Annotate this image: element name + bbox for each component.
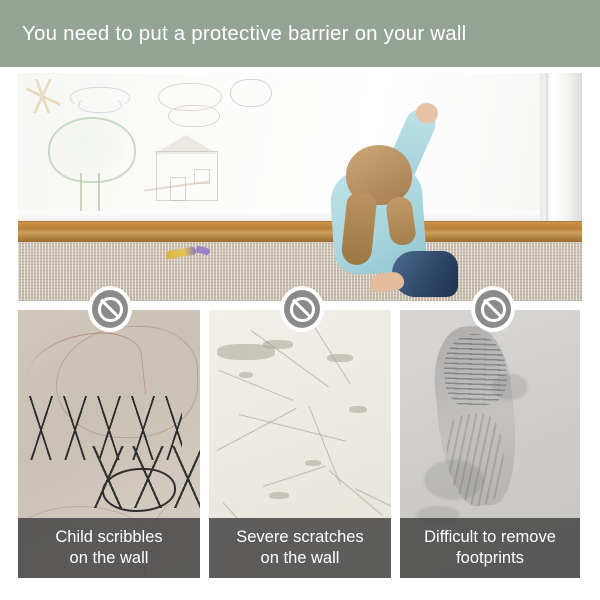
page-title: You need to put a protective barrier on …: [0, 22, 466, 46]
card-caption: Severe scratches on the wall: [209, 518, 391, 578]
problem-card[interactable]: Severe scratches on the wall: [209, 310, 391, 578]
card-caption-text: Severe scratches on the wall: [230, 527, 369, 569]
door-frame: [540, 73, 582, 242]
scratch: [263, 466, 326, 487]
scratch: [239, 414, 346, 442]
paint-chip: [305, 460, 321, 466]
child-figure: [318, 101, 458, 301]
card-caption-text: Difficult to remove footprints: [418, 527, 562, 569]
new-scribble-drawing-icon: [230, 79, 272, 107]
wall-smudge: [424, 460, 484, 500]
caption-line-2: footprints: [456, 549, 524, 567]
house-door-drawing-icon: [170, 177, 186, 201]
prohibition-glyph: [290, 297, 315, 322]
prohibition-icon: [471, 286, 515, 332]
prohibition-icon: [280, 286, 324, 332]
caption-line-1: Child scribbles: [55, 528, 162, 546]
scratch: [309, 406, 341, 484]
wall-smudge: [492, 374, 528, 400]
paint-chip: [349, 406, 367, 413]
problem-card[interactable]: Child scribbles on the wall: [18, 310, 200, 578]
caption-line-2: on the wall: [261, 549, 340, 567]
card-caption: Child scribbles on the wall: [18, 518, 200, 578]
header-banner: You need to put a protective barrier on …: [0, 0, 600, 67]
scratch: [329, 470, 383, 516]
wood-baseboard: [18, 221, 582, 242]
scratch: [355, 488, 391, 513]
child-jeans: [392, 251, 458, 297]
hero-wall: [18, 73, 582, 223]
problem-card-row: Child scribbles on the wall: [18, 310, 582, 578]
caption-line-1: Difficult to remove: [424, 528, 556, 546]
prohibition-glyph: [98, 297, 123, 322]
caption-line-1: Severe scratches: [236, 528, 363, 546]
prohibition-glyph: [481, 297, 506, 322]
card-caption: Difficult to remove footprints: [400, 518, 580, 578]
scratch: [219, 370, 294, 401]
card-caption-text: Child scribbles on the wall: [49, 527, 168, 569]
problem-card[interactable]: Difficult to remove footprints: [400, 310, 580, 578]
scratch: [217, 408, 297, 451]
caption-line-2: on the wall: [70, 549, 149, 567]
promo-page: You need to put a protective barrier on …: [0, 0, 600, 600]
paint-chip: [269, 492, 289, 499]
hero-photo: [18, 73, 582, 301]
cloud-drawing-icon: [168, 105, 220, 127]
paint-chip: [239, 372, 253, 378]
prohibition-icon: [88, 286, 132, 332]
cloud-drawing-icon: [78, 97, 122, 113]
sun-drawing-icon: [26, 79, 60, 113]
